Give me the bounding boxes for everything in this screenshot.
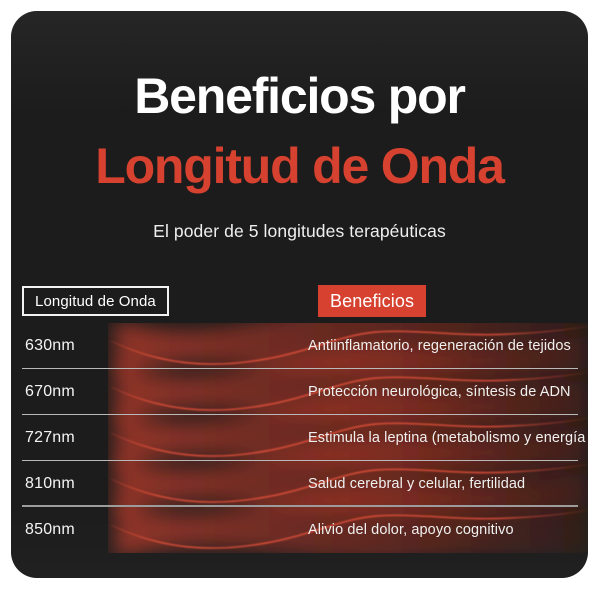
cell-wavelength: 850nm (25, 507, 75, 553)
table-row[interactable]: 810nm Salud cerebral y celular, fertilid… (11, 461, 588, 507)
table-body: 630nm Antiinflamatorio, regeneración de … (11, 323, 588, 553)
table-row[interactable]: 670nm Protección neurológica, síntesis d… (11, 369, 588, 415)
table-header-row: Longitud de Onda Beneficios (11, 284, 588, 323)
page-title-line-1: Beneficios por (11, 60, 588, 132)
table-row[interactable]: 630nm Antiinflamatorio, regeneración de … (11, 323, 588, 369)
header: Beneficios por Longitud de Onda El poder… (11, 11, 588, 242)
column-header-benefits: Beneficios (318, 285, 426, 317)
cell-wavelength: 630nm (25, 323, 75, 369)
cell-benefit: Salud cerebral y celular, fertilidad (308, 461, 588, 507)
poster-canvas: Beneficios por Longitud de Onda El poder… (0, 0, 600, 600)
cell-benefit: Alivio del dolor, apoyo cognitivo (308, 507, 588, 553)
wavelength-benefits-table: Longitud de Onda Beneficios (11, 284, 588, 553)
cell-wavelength: 670nm (25, 369, 75, 415)
infographic-card: Beneficios por Longitud de Onda El poder… (11, 11, 588, 578)
column-header-wavelength: Longitud de Onda (22, 286, 169, 316)
cell-benefit: Antiinflamatorio, regeneración de tejido… (308, 323, 588, 369)
cell-benefit: Estimula la leptina (metabolismo y energ… (308, 415, 588, 461)
table-row[interactable]: 850nm Alivio del dolor, apoyo cognitivo (11, 507, 588, 553)
cell-wavelength: 810nm (25, 461, 75, 507)
cell-benefit: Protección neurológica, síntesis de ADN (308, 369, 588, 415)
page-subtitle: El poder de 5 longitudes terapéuticas (11, 220, 588, 242)
table-row[interactable]: 727nm Estimula la leptina (metabolismo y… (11, 415, 588, 461)
cell-wavelength: 727nm (25, 415, 75, 461)
page-title-line-2: Longitud de Onda (11, 130, 588, 202)
